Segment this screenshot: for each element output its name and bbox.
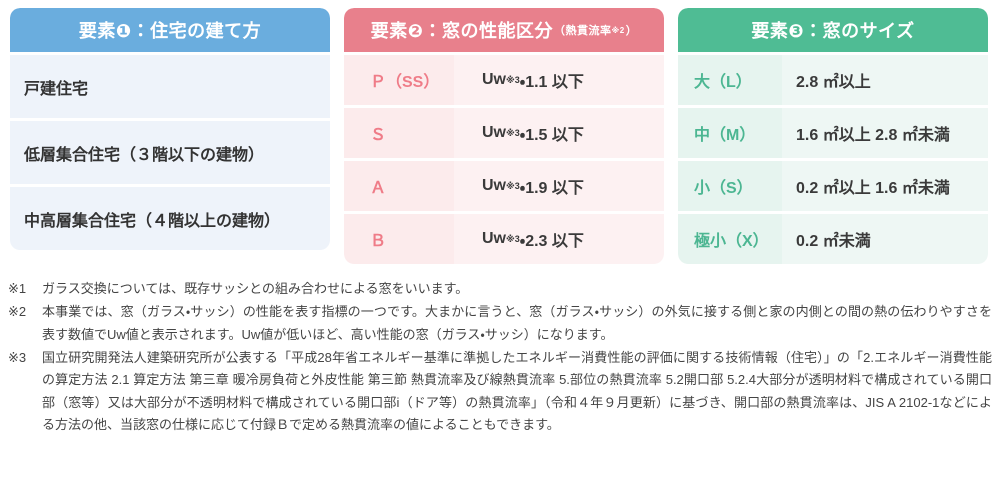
table-2-row-0-key: Ｐ（SS） [344,55,454,105]
table-row: Ｓ Uw※3・1.5 以下 [344,108,664,158]
table-3-row-0-value: 2.8 ㎡以上 [782,55,988,105]
table-3-row-0-key: 大（L） [678,55,782,105]
table-1-row-0-label: 戸建住宅 [24,75,88,99]
table-row: 低層集合住宅（３階以下の建物） [10,121,330,184]
table-2-row-1-value: Uw※3・1.5 以下 [454,108,664,158]
table-2-row-0-value: Uw※3・1.1 以下 [454,55,664,105]
table-3-row-2-value: 0.2 ㎡以上 1.6 ㎡未満 [782,161,988,211]
table-3-row-1-key: 中（M） [678,108,782,158]
requirement-tables: 要素❶：住宅の建て方 戸建住宅 低層集合住宅（３階以下の建物） 中高層集合住宅（… [0,0,1000,264]
table-1-row-1-label: 低層集合住宅（３階以下の建物） [24,141,264,165]
table-row: 大（L） 2.8 ㎡以上 [678,55,988,105]
table-2-row-2-key: Ａ [344,161,454,211]
table-element-1: 要素❶：住宅の建て方 戸建住宅 低層集合住宅（３階以下の建物） 中高層集合住宅（… [10,8,330,264]
table-row: 戸建住宅 [10,55,330,118]
table-3-row-3-value: 0.2 ㎡未満 [782,214,988,264]
uw-label: Uw [482,124,506,142]
footnote-2-text: 本事業では、窓（ガラス・サッシ）の性能を表す指標の一つです。大まかに言うと、窓（… [42,301,992,346]
uw-footnote-ref: ※3 [506,75,520,86]
footnote-2-mark: ※2 [8,301,42,346]
table-1-row-2-label: 中高層集合住宅（４階以上の建物） [24,207,280,231]
table-2-header-title: 要素❷：窓の性能区分 [371,17,553,43]
table-3-body: 大（L） 2.8 ㎡以上 中（M） 1.6 ㎡以上 2.8 ㎡未満 小（S） 0… [678,52,988,264]
table-1-header-title: 要素❶：住宅の建て方 [79,17,261,43]
table-row: Ｐ（SS） Uw※3・1.1 以下 [344,55,664,105]
table-element-2: 要素❷：窓の性能区分（熱貫流率※2） Ｐ（SS） Uw※3・1.1 以下 Ｓ U… [344,8,664,264]
table-3-row-3-key: 極小（X） [678,214,782,264]
table-row: 中（M） 1.6 ㎡以上 2.8 ㎡未満 [678,108,988,158]
table-3-header-title: 要素❸：窓のサイズ [751,17,914,43]
table-3-header: 要素❸：窓のサイズ [678,8,988,52]
footnote-3-mark: ※3 [8,347,42,436]
footnote-1-mark: ※1 [8,278,42,300]
table-2-header: 要素❷：窓の性能区分（熱貫流率※2） [344,8,664,52]
footnote-3-text: 国立研究開発法人建築研究所が公表する「平成28年省エネルギー基準に準拠したエネル… [42,347,992,436]
uw-label: Uw [482,230,506,248]
table-2-row-2-value: Uw※3・1.9 以下 [454,161,664,211]
table-row: Ａ Uw※3・1.9 以下 [344,161,664,211]
table-2-body: Ｐ（SS） Uw※3・1.1 以下 Ｓ Uw※3・1.5 以下 Ａ Uw※3・1… [344,52,664,264]
table-2-header-subtitle: （熱貫流率 [554,22,612,38]
footnote-1-text: ガラス交換については、既存サッシとの組み合わせによる窓をいいます。 [42,278,992,300]
page-root: { "colors": { "blue_header": "#6aadde", … [0,0,1000,493]
footnote-2: ※2 本事業では、窓（ガラス・サッシ）の性能を表す指標の一つです。大まかに言うと… [8,301,992,346]
uw-footnote-ref: ※3 [506,128,520,139]
uw-label: Uw [482,177,506,195]
footnote-1: ※1 ガラス交換については、既存サッシとの組み合わせによる窓をいいます。 [8,278,992,300]
uw-label: Uw [482,71,506,89]
table-element-3: 要素❸：窓のサイズ 大（L） 2.8 ㎡以上 中（M） 1.6 ㎡以上 2.8 … [678,8,988,264]
table-2-header-subtitle-close: ） [626,22,638,38]
uw-threshold: ・1.1 以下 [520,68,584,92]
table-1-header: 要素❶：住宅の建て方 [10,8,330,52]
uw-threshold: ・1.9 以下 [520,174,584,198]
uw-threshold: ・2.3 以下 [520,227,584,251]
table-3-row-1-value: 1.6 ㎡以上 2.8 ㎡未満 [782,108,988,158]
table-2-row-3-key: Ｂ [344,214,454,264]
footnote-3: ※3 国立研究開発法人建築研究所が公表する「平成28年省エネルギー基準に準拠した… [8,347,992,436]
table-row: 極小（X） 0.2 ㎡未満 [678,214,988,264]
table-3-row-2-key: 小（S） [678,161,782,211]
table-2-row-3-value: Uw※3・2.3 以下 [454,214,664,264]
table-2-row-1-key: Ｓ [344,108,454,158]
table-row: Ｂ Uw※3・2.3 以下 [344,214,664,264]
table-2-header-footnote-ref: ※2 [612,26,625,35]
table-row: 中高層集合住宅（４階以上の建物） [10,187,330,250]
table-1-body: 戸建住宅 低層集合住宅（３階以下の建物） 中高層集合住宅（４階以上の建物） [10,52,330,250]
table-row: 小（S） 0.2 ㎡以上 1.6 ㎡未満 [678,161,988,211]
uw-footnote-ref: ※3 [506,181,520,192]
uw-threshold: ・1.5 以下 [520,121,584,145]
footnotes: ※1 ガラス交換については、既存サッシとの組み合わせによる窓をいいます。 ※2 … [0,264,1000,437]
uw-footnote-ref: ※3 [506,234,520,245]
